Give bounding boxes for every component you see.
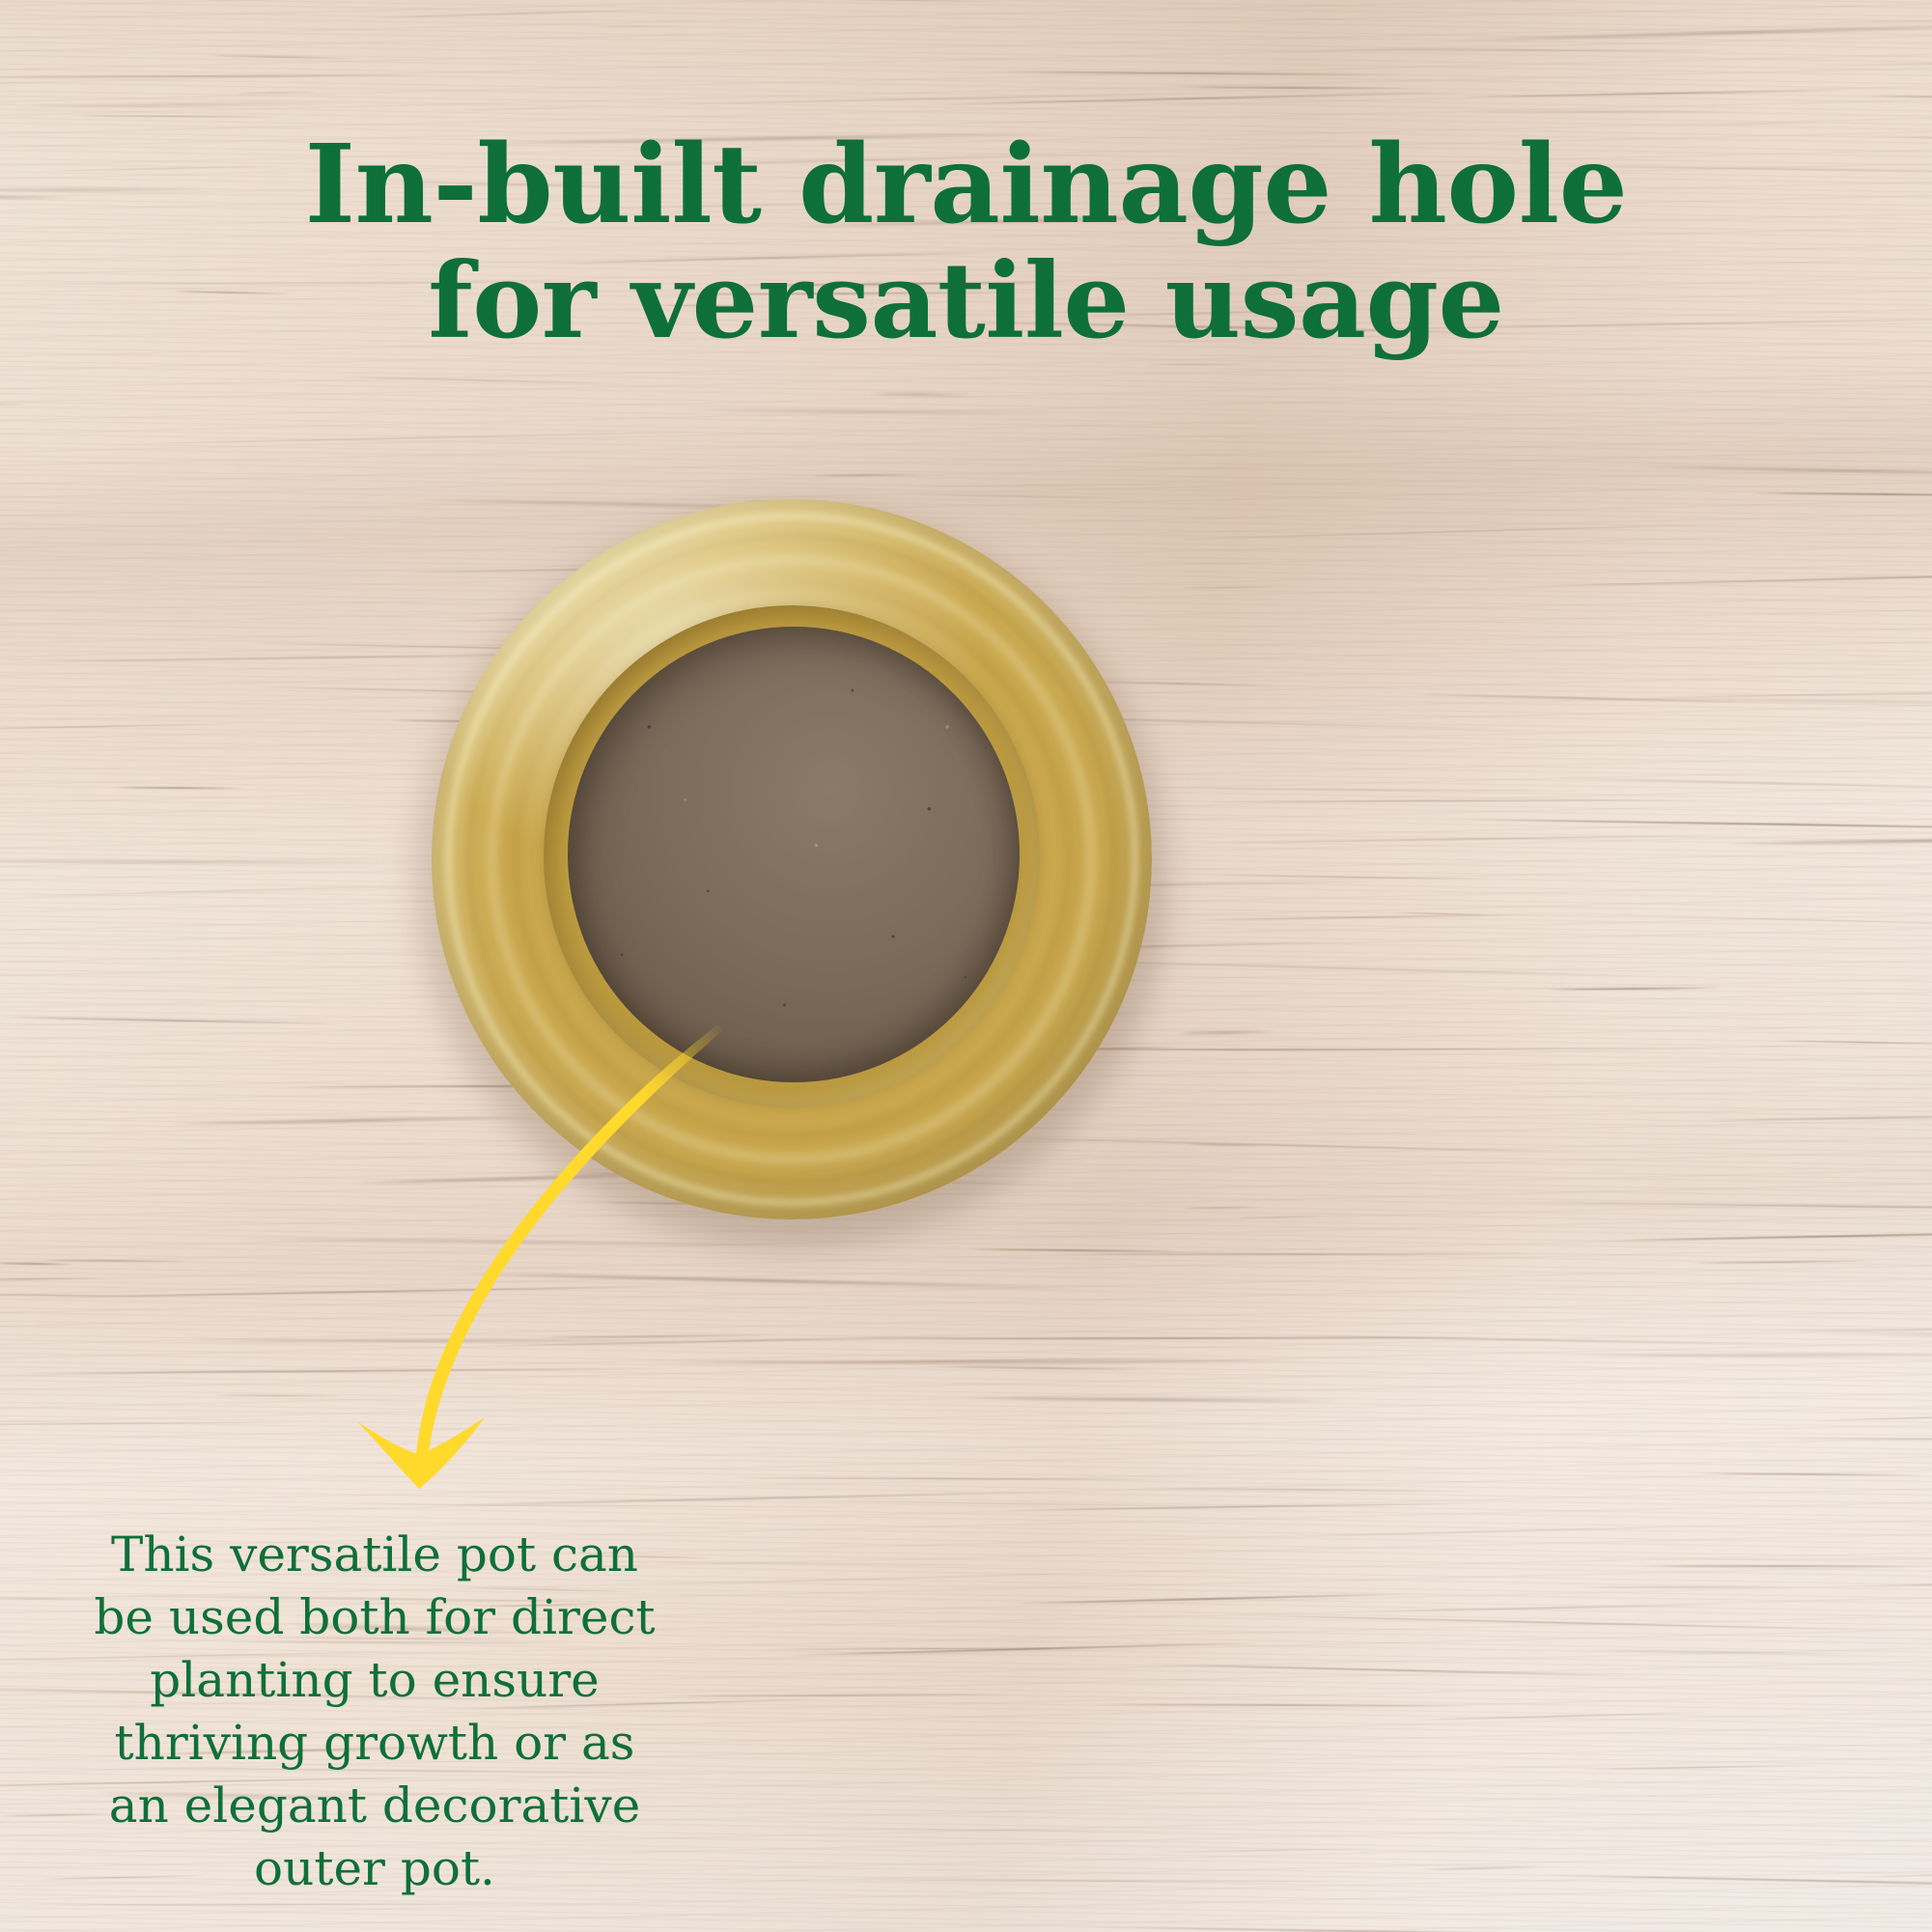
headline-line-1: In-built drainage hole [116, 126, 1816, 244]
headline-line-2: for versatile usage [116, 244, 1816, 359]
caption-line-5: an elegant decorative [75, 1775, 674, 1837]
caption-line-1: This versatile pot can [75, 1524, 674, 1586]
pot-interior-base [568, 627, 1020, 1082]
caption-block: This versatile pot can be used both for … [75, 1524, 674, 1900]
headline: In-built drainage hole for versatile usa… [0, 126, 1932, 359]
caption-line-2: be used both for direct [75, 1586, 674, 1649]
pot-interior-speckles [568, 627, 1020, 1082]
caption-line-3: planting to ensure [75, 1649, 674, 1712]
caption-line-4: thriving growth or as [75, 1712, 674, 1775]
plant-pot [432, 499, 1152, 1219]
marketing-image-canvas: In-built drainage hole for versatile usa… [0, 0, 1932, 1932]
caption-line-6: outer pot. [75, 1837, 674, 1900]
